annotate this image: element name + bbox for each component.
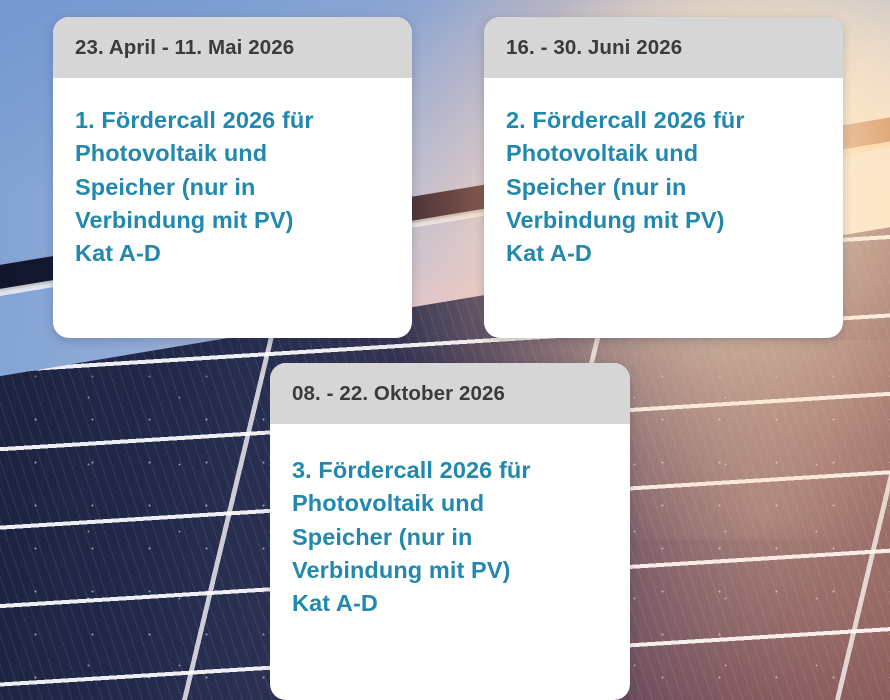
card-3-header: 08. - 22. Oktober 2026 [270, 363, 630, 424]
card-3-date-range: 08. - 22. Oktober 2026 [292, 382, 505, 406]
card-2-body: 2. Fördercall 2026 für Photovoltaik und … [484, 78, 843, 295]
funding-call-card-3[interactable]: 08. - 22. Oktober 2026 3. Fördercall 202… [270, 363, 630, 700]
card-1-body: 1. Fördercall 2026 für Photovoltaik und … [53, 78, 412, 295]
funding-call-card-1[interactable]: 23. April - 11. Mai 2026 1. Fördercall 2… [53, 17, 412, 338]
card-1-header: 23. April - 11. Mai 2026 [53, 17, 412, 78]
funding-call-timeline-graphic: 23. April - 11. Mai 2026 1. Fördercall 2… [0, 0, 890, 700]
card-3-title: 3. Fördercall 2026 für Photovoltaik und … [292, 454, 608, 621]
card-3-body: 3. Fördercall 2026 für Photovoltaik und … [270, 424, 630, 645]
funding-call-card-2[interactable]: 16. - 30. Juni 2026 2. Fördercall 2026 f… [484, 17, 843, 338]
card-2-header: 16. - 30. Juni 2026 [484, 17, 843, 78]
card-1-date-range: 23. April - 11. Mai 2026 [75, 36, 294, 60]
card-1-title: 1. Fördercall 2026 für Photovoltaik und … [75, 104, 390, 271]
card-2-title: 2. Fördercall 2026 für Photovoltaik und … [506, 104, 821, 271]
card-2-date-range: 16. - 30. Juni 2026 [506, 36, 682, 60]
